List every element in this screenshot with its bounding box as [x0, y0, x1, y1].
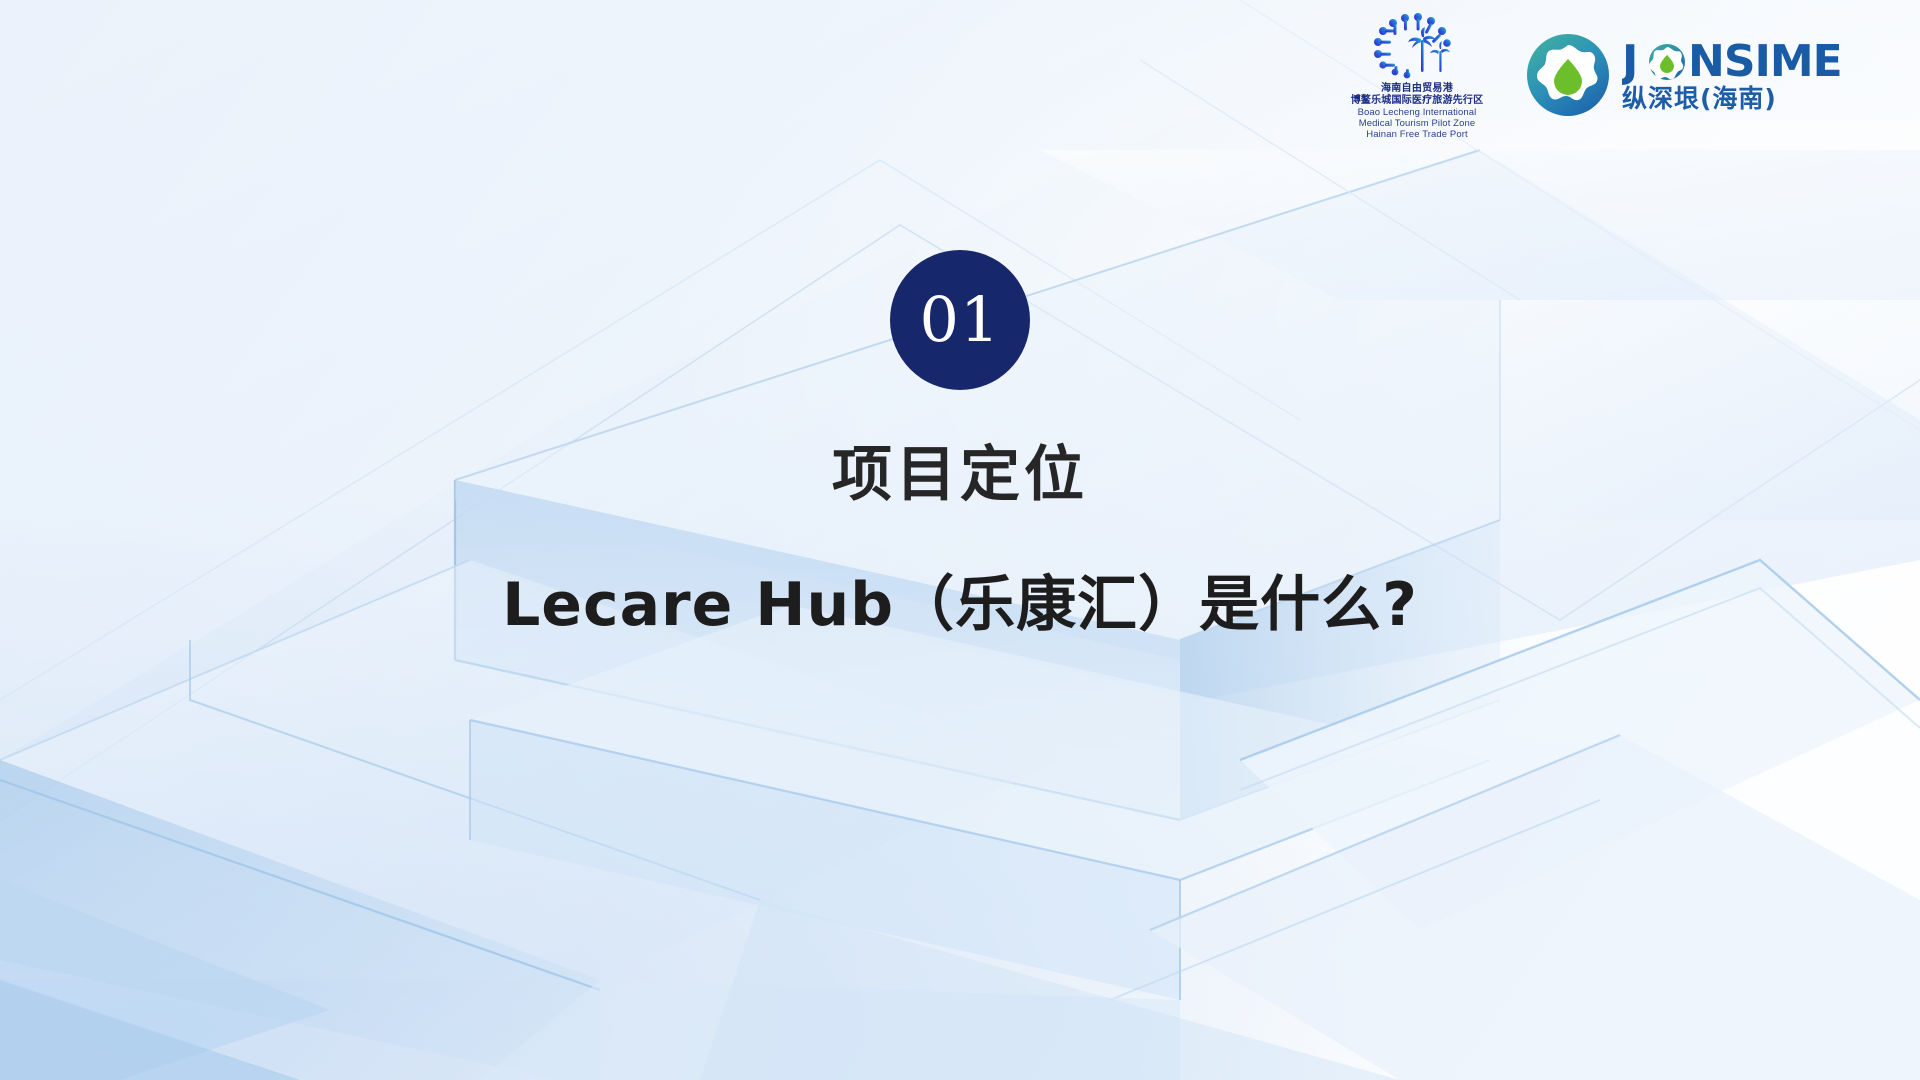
slide-root: 海南自由贸易港 博鳌乐城国际医疗旅游先行区 Boao Lecheng Inter…: [0, 0, 1920, 1080]
page-subtitle: Lecare Hub（乐康汇）是什么?: [0, 572, 1920, 638]
slide-content: 01 项目定位 Lecare Hub（乐康汇）是什么?: [0, 0, 1920, 1080]
section-number-text: 01: [920, 289, 1001, 351]
section-number-badge: 01: [890, 250, 1030, 390]
page-title: 项目定位: [0, 442, 1920, 508]
